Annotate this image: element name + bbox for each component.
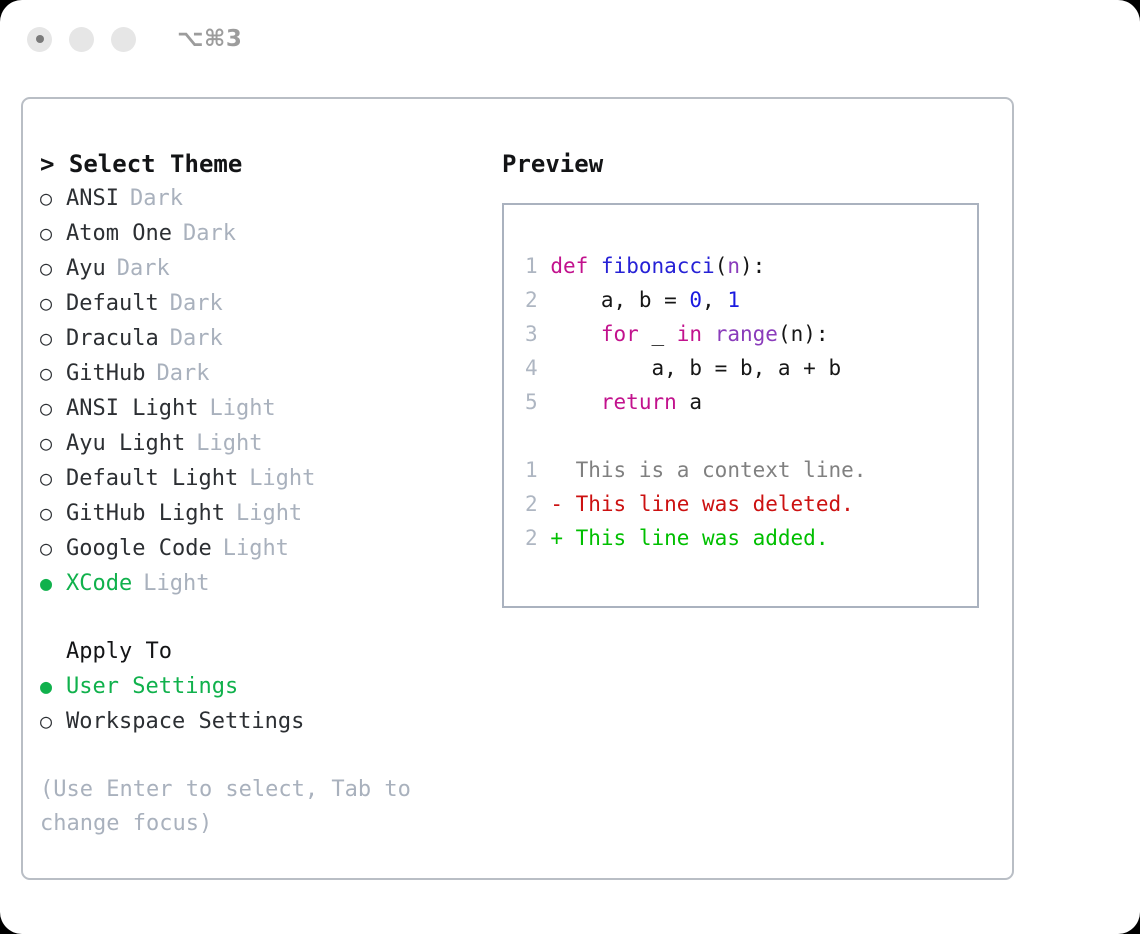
app-window: ⌥⌘3 > Select Theme ○ANSIDark○Atom OneDar… [0, 0, 1140, 934]
keyboard-shortcut-label: ⌥⌘3 [177, 26, 242, 52]
code-token: a, b = b, a + b [550, 356, 841, 380]
code-token [702, 322, 715, 346]
diff-line: 2 - This line was deleted. [525, 487, 977, 521]
main-panel: > Select Theme ○ANSIDark○Atom OneDark○Ay… [21, 97, 1014, 880]
code-token: fibonacci [601, 254, 715, 278]
theme-option-label: Atom One [66, 217, 172, 251]
code-token: _ [639, 322, 677, 346]
code-token: ): [740, 254, 765, 278]
code-line: 5 return a [525, 385, 977, 419]
keyboard-hint: (Use Enter to select, Tab to change focu… [40, 773, 448, 841]
code-token: ( [715, 254, 728, 278]
radio-unselected-icon: ○ [40, 356, 66, 390]
apply-to-option-workspace-settings[interactable]: ○Workspace Settings [40, 704, 490, 739]
code-token: range [715, 322, 778, 346]
line-number: 2 [525, 288, 538, 312]
radio-unselected-icon: ○ [40, 531, 66, 565]
theme-option-variant: Dark [183, 217, 236, 251]
radio-unselected-icon: ○ [40, 216, 66, 250]
code-token: 0 [689, 288, 702, 312]
window-controls [27, 27, 136, 52]
line-number: 4 [525, 356, 538, 380]
theme-option-xcode[interactable]: ●XCodeLight [40, 566, 490, 601]
keyboard-hint-line-2: change focus) [40, 807, 448, 841]
theme-option-label: XCode [66, 567, 132, 601]
code-token: return [601, 390, 677, 414]
radio-unselected-icon: ○ [40, 426, 66, 460]
line-number: 2 [525, 492, 538, 516]
code-token: for [601, 322, 639, 346]
diff-line: 2 + This line was added. [525, 521, 977, 555]
theme-option-ansi[interactable]: ○ANSIDark [40, 181, 490, 216]
active-indicator-dot [36, 35, 44, 43]
apply-to-option-label: Workspace Settings [66, 705, 304, 739]
theme-option-variant: Dark [130, 182, 183, 216]
line-number-gutter-space [538, 356, 551, 380]
theme-option-variant: Light [249, 462, 315, 496]
apply-to-list: ●User Settings○Workspace Settings [40, 669, 490, 739]
radio-selected-icon: ● [40, 669, 66, 703]
minimize-button[interactable] [69, 27, 94, 52]
theme-option-label: Default [66, 287, 159, 321]
panel-columns: > Select Theme ○ANSIDark○Atom OneDark○Ay… [23, 99, 1012, 878]
radio-unselected-icon: ○ [40, 496, 66, 530]
code-diff-gap [525, 419, 977, 453]
code-token: def [550, 254, 588, 278]
code-line: 1 def fibonacci(n): [525, 249, 977, 283]
theme-option-github[interactable]: ○GitHubDark [40, 356, 490, 391]
line-number: 5 [525, 390, 538, 414]
theme-option-ayu-light[interactable]: ○Ayu LightLight [40, 426, 490, 461]
radio-unselected-icon: ○ [40, 321, 66, 355]
preview-box: 1 def fibonacci(n):2 a, b = 0, 13 for _ … [502, 203, 979, 608]
diff-text: This is a context line. [550, 458, 866, 482]
theme-option-default-light[interactable]: ○Default LightLight [40, 461, 490, 496]
code-token: in [677, 322, 702, 346]
select-theme-heading: > Select Theme [40, 147, 490, 181]
diff-line: 1 This is a context line. [525, 453, 977, 487]
theme-option-default[interactable]: ○DefaultDark [40, 286, 490, 321]
theme-option-variant: Dark [156, 357, 209, 391]
apply-to-option-label: User Settings [66, 670, 238, 704]
radio-unselected-icon: ○ [40, 181, 66, 215]
theme-option-atom-one[interactable]: ○Atom OneDark [40, 216, 490, 251]
theme-option-variant: Dark [170, 322, 223, 356]
title-bar: ⌥⌘3 [0, 0, 1140, 78]
code-line: 3 for _ in range(n): [525, 317, 977, 351]
theme-option-variant: Dark [117, 252, 170, 286]
theme-option-label: ANSI Light [66, 392, 198, 426]
theme-option-variant: Light [209, 392, 275, 426]
code-sample: 1 def fibonacci(n):2 a, b = 0, 13 for _ … [525, 249, 977, 419]
radio-unselected-icon: ○ [40, 391, 66, 425]
theme-list: ○ANSIDark○Atom OneDark○AyuDark○DefaultDa… [40, 181, 490, 601]
theme-option-variant: Light [143, 567, 209, 601]
close-button[interactable] [27, 27, 52, 52]
theme-option-ansi-light[interactable]: ○ANSI LightLight [40, 391, 490, 426]
line-number-gutter-space [538, 390, 551, 414]
code-token: (n): [778, 322, 829, 346]
line-number: 2 [525, 526, 538, 550]
list-spacer [40, 601, 490, 635]
code-token: , [702, 288, 727, 312]
radio-unselected-icon: ○ [40, 461, 66, 495]
theme-option-label: Default Light [66, 462, 238, 496]
keyboard-hint-line-1: (Use Enter to select, Tab to [40, 773, 448, 807]
code-token: a [677, 390, 702, 414]
apply-to-option-user-settings[interactable]: ●User Settings [40, 669, 490, 704]
line-number: 3 [525, 322, 538, 346]
code-token [588, 254, 601, 278]
theme-option-ayu[interactable]: ○AyuDark [40, 251, 490, 286]
theme-option-dracula[interactable]: ○DraculaDark [40, 321, 490, 356]
theme-option-label: GitHub [66, 357, 145, 391]
line-number-gutter-space [538, 322, 551, 346]
theme-option-label: Dracula [66, 322, 159, 356]
code-token: 1 [727, 288, 740, 312]
theme-option-variant: Light [236, 497, 302, 531]
theme-option-variant: Light [223, 532, 289, 566]
code-token: a, b = [550, 288, 689, 312]
radio-unselected-icon: ○ [40, 286, 66, 320]
maximize-button[interactable] [111, 27, 136, 52]
theme-option-label: Google Code [66, 532, 212, 566]
line-number-gutter-space [538, 492, 551, 516]
theme-option-label: GitHub Light [66, 497, 225, 531]
code-token [550, 322, 601, 346]
line-number: 1 [525, 254, 538, 278]
theme-option-label: Ayu [66, 252, 106, 286]
theme-picker-column: > Select Theme ○ANSIDark○Atom OneDark○Ay… [40, 147, 490, 841]
preview-heading: Preview [502, 147, 992, 181]
code-token [550, 390, 601, 414]
theme-option-github-light[interactable]: ○GitHub LightLight [40, 496, 490, 531]
radio-unselected-icon: ○ [40, 251, 66, 285]
theme-option-variant: Light [196, 427, 262, 461]
theme-option-label: Ayu Light [66, 427, 185, 461]
radio-selected-icon: ● [40, 566, 66, 600]
diff-text: + This line was added. [550, 526, 828, 550]
apply-to-heading: Apply To [40, 635, 490, 669]
theme-option-variant: Dark [170, 287, 223, 321]
diff-sample: 1 This is a context line.2 - This line w… [525, 453, 977, 555]
line-number: 1 [525, 458, 538, 482]
line-number-gutter-space [538, 458, 551, 482]
theme-option-label: ANSI [66, 182, 119, 216]
code-token: n [727, 254, 740, 278]
line-number-gutter-space [538, 526, 551, 550]
diff-text: - This line was deleted. [550, 492, 853, 516]
radio-unselected-icon: ○ [40, 704, 66, 738]
preview-column: Preview 1 def fibonacci(n):2 a, b = 0, 1… [502, 147, 992, 608]
code-line: 4 a, b = b, a + b [525, 351, 977, 385]
line-number-gutter-space [538, 254, 551, 278]
theme-option-google-code[interactable]: ○Google CodeLight [40, 531, 490, 566]
hint-spacer [40, 739, 490, 773]
code-line: 2 a, b = 0, 1 [525, 283, 977, 317]
line-number-gutter-space [538, 288, 551, 312]
